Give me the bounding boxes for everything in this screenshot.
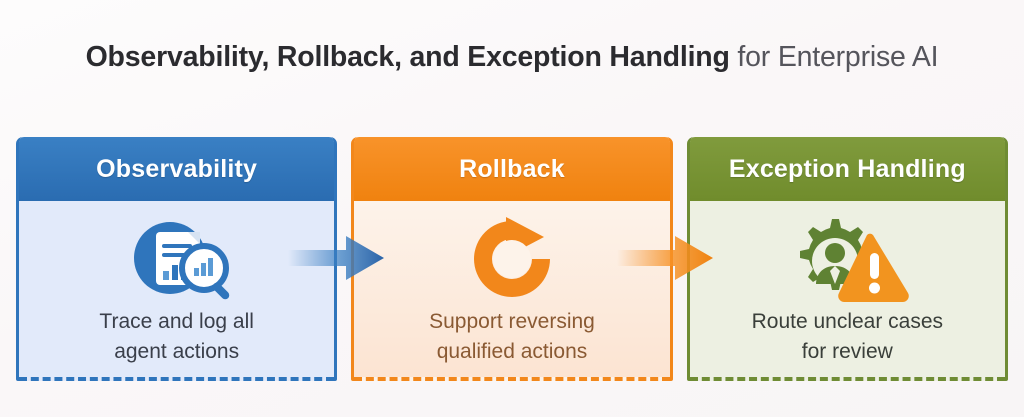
card-rollback-body: Support reversing qualified actions — [354, 201, 669, 381]
card-rollback[interactable]: Rollback Support reversing qualified act… — [351, 137, 672, 381]
card-observability-description: Trace and log all agent actions — [85, 307, 267, 367]
card-rollback-description: Support reversing qualified actions — [415, 307, 609, 367]
card-exception-handling-header: Exception Handling — [690, 137, 1005, 201]
card-observability[interactable]: Observability — [16, 137, 337, 381]
page-title-light: for Enterprise AI — [730, 41, 939, 73]
page-title: Observability, Rollback, and Exception H… — [0, 38, 1024, 76]
card-observability-body: Trace and log all agent actions — [19, 201, 334, 381]
card-exception-handling-description: Route unclear cases for review — [738, 307, 957, 367]
gear-person-warning-icon — [784, 213, 910, 305]
circular-undo-arrow-icon — [466, 213, 558, 305]
card-observability-header: Observability — [19, 137, 334, 201]
card-rollback-header: Rollback — [354, 137, 669, 201]
document-chart-magnifier-icon — [118, 213, 236, 305]
page-title-bold: Observability, Rollback, and Exception H… — [86, 41, 730, 73]
card-exception-handling-body: Route unclear cases for review — [690, 201, 1005, 381]
card-row: Observability — [16, 137, 1008, 381]
infographic-canvas: Observability, Rollback, and Exception H… — [0, 0, 1024, 417]
card-exception-handling[interactable]: Exception Handling — [687, 137, 1008, 381]
